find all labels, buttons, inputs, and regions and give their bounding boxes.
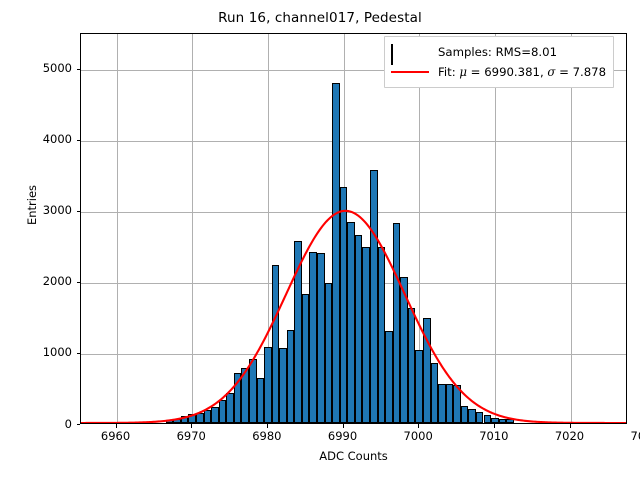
legend-patch-icon — [391, 45, 429, 59]
y-tick-mark — [77, 69, 81, 70]
x-tick-mark — [418, 424, 419, 428]
x-tick-mark — [191, 424, 192, 428]
x-tick-label: 7010 — [464, 429, 524, 443]
x-axis-label: ADC Counts — [80, 449, 627, 463]
y-tick-label: 2000 — [12, 274, 72, 288]
x-tick-label: 7030 — [615, 429, 640, 443]
legend-item-samples: Samples: RMS=8.01 — [391, 42, 606, 62]
y-tick-label: 5000 — [12, 61, 72, 75]
y-tick-label: 3000 — [12, 203, 72, 217]
y-tick-mark — [77, 424, 81, 425]
y-tick-label: 1000 — [12, 345, 72, 359]
fit-curve-path — [81, 211, 626, 423]
x-tick-mark — [267, 424, 268, 428]
plot-axes — [80, 33, 627, 424]
y-tick-mark — [77, 211, 81, 212]
legend-item-fit: Fit: μ = 6990.381, σ = 7.878 — [391, 62, 606, 82]
legend-label-fit: Fit: μ = 6990.381, σ = 7.878 — [438, 65, 606, 79]
fit-curve — [81, 34, 626, 423]
x-tick-mark — [116, 424, 117, 428]
legend: Samples: RMS=8.01 Fit: μ = 6990.381, σ =… — [384, 36, 614, 88]
x-tick-label: 6970 — [161, 429, 221, 443]
x-tick-mark — [343, 424, 344, 428]
x-tick-label: 7000 — [388, 429, 448, 443]
legend-label-samples: Samples: RMS=8.01 — [438, 45, 557, 59]
y-tick-mark — [77, 140, 81, 141]
x-tick-mark — [494, 424, 495, 428]
x-tick-mark — [570, 424, 571, 428]
legend-line-icon — [391, 65, 429, 79]
y-tick-mark — [77, 282, 81, 283]
x-tick-label: 6960 — [86, 429, 146, 443]
y-tick-label: 4000 — [12, 132, 72, 146]
x-tick-label: 7020 — [540, 429, 600, 443]
y-tick-mark — [77, 353, 81, 354]
x-tick-label: 6990 — [313, 429, 373, 443]
plot-area — [81, 34, 626, 423]
y-tick-label: 0 — [12, 417, 72, 431]
y-axis-label: Entries — [25, 95, 39, 315]
page-title: Run 16, channel017, Pedestal — [0, 10, 640, 26]
x-tick-label: 6980 — [237, 429, 297, 443]
chart-figure: Run 16, channel017, Pedestal 69606970698… — [0, 0, 640, 480]
